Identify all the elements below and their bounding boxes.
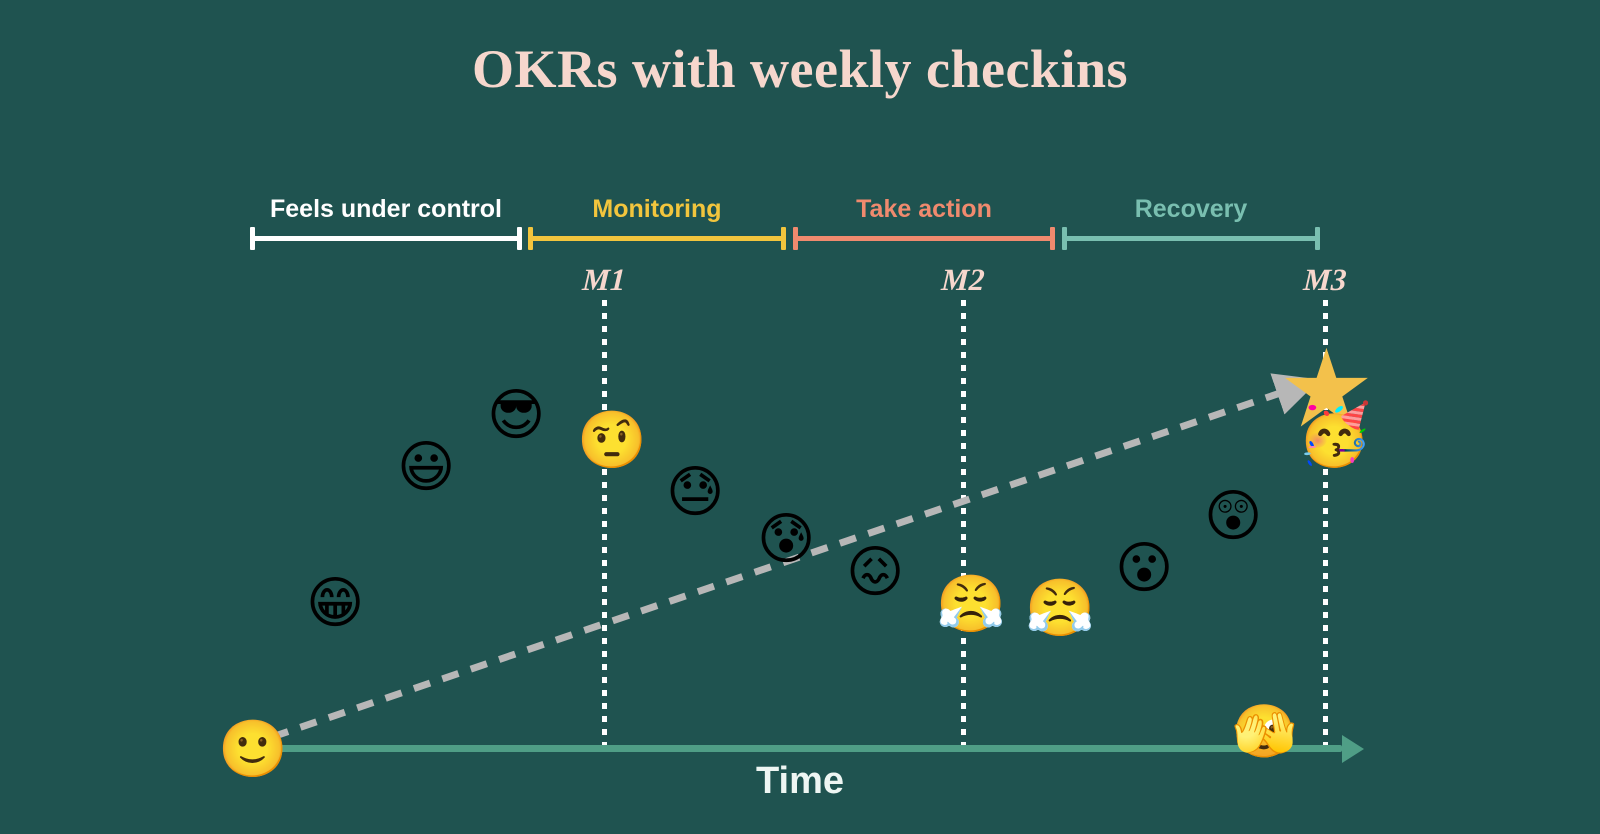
milestone-label-m2: M2 xyxy=(902,262,1024,298)
milestone-label-m3: M3 xyxy=(1264,262,1386,298)
phase-label-take-action: Take action xyxy=(793,195,1055,224)
emoji-face-with-raised-eyebrow: 🤨 xyxy=(577,413,633,469)
emoji-face-with-open-mouth: 😮 xyxy=(1115,541,1171,597)
emoji-confounded-face: 😖 xyxy=(846,545,902,601)
emoji-face-with-steam-from-nose-2: 😤 xyxy=(1025,581,1081,637)
milestone-line-m2 xyxy=(961,300,966,755)
emoji-smiling-face-with-sunglasses: 😎 xyxy=(487,388,543,444)
phase-bracket-take-action xyxy=(793,236,1055,241)
phase-label-recovery: Recovery xyxy=(1062,195,1320,224)
milestone-line-m1 xyxy=(602,300,607,755)
bracket-cap-left xyxy=(250,227,255,250)
bracket-cap-left xyxy=(793,227,798,250)
bracket-bar xyxy=(528,236,786,241)
emoji-downcast-face-with-sweat: 😓 xyxy=(666,465,722,521)
phase-label-feels-under-control: Feels under control xyxy=(250,195,522,224)
bracket-bar xyxy=(250,236,522,241)
page-title: OKRs with weekly checkins xyxy=(0,38,1600,100)
bracket-cap-left xyxy=(1062,227,1067,250)
bracket-bar xyxy=(1062,236,1320,241)
phase-bracket-feels-under-control xyxy=(250,236,522,241)
emoji-face-with-steam-from-nose-1: 😤 xyxy=(936,577,992,633)
bracket-cap-right xyxy=(1315,227,1320,250)
bracket-cap-right xyxy=(1050,227,1055,250)
phase-label-monitoring: Monitoring xyxy=(528,195,786,224)
time-axis-line xyxy=(262,745,1342,752)
emoji-grinning-face-with-smiling-eyes: 😃 xyxy=(397,440,453,496)
emoji-slightly-smiling-face: 🙂 xyxy=(218,722,274,778)
emoji-beaming-face-with-smiling-eyes: 😁 xyxy=(306,576,362,632)
bracket-bar xyxy=(793,236,1055,241)
emoji-face-with-peeking-eye: 🫣 xyxy=(1232,706,1284,758)
emoji-anxious-face-with-sweat: 😰 xyxy=(757,512,813,568)
milestone-label-m1: M1 xyxy=(543,262,665,298)
time-axis-arrow-icon xyxy=(1342,735,1364,763)
emoji-partying-face: 🥳 xyxy=(1297,405,1357,465)
bracket-cap-right xyxy=(781,227,786,250)
phase-bracket-recovery xyxy=(1062,236,1320,241)
bracket-cap-right xyxy=(517,227,522,250)
bracket-cap-left xyxy=(528,227,533,250)
slide-canvas: OKRs with weekly checkins Feels under co… xyxy=(0,0,1600,834)
phase-bracket-monitoring xyxy=(528,236,786,241)
emoji-astonished-face: 😲 xyxy=(1204,489,1260,545)
